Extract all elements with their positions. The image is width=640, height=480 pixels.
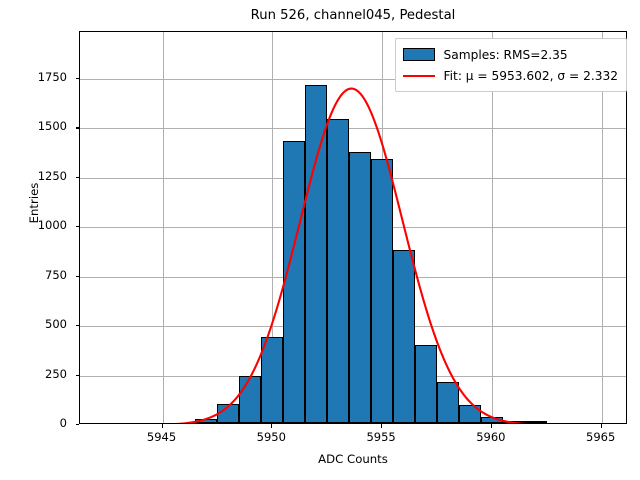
x-tick-mark bbox=[271, 424, 272, 428]
y-tick-mark bbox=[76, 226, 80, 227]
fit-curve-path bbox=[80, 89, 627, 424]
legend-item-samples: Samples: RMS=2.35 bbox=[403, 44, 618, 65]
legend-label-fit: Fit: μ = 5953.602, σ = 2.332 bbox=[444, 69, 618, 83]
y-tick-mark bbox=[76, 127, 80, 128]
x-tick-mark bbox=[601, 424, 602, 428]
y-tick-mark bbox=[76, 375, 80, 376]
y-tick-mark bbox=[76, 424, 80, 425]
y-tick-label: 1750 bbox=[21, 70, 67, 84]
x-tick-label: 5955 bbox=[351, 430, 411, 444]
y-tick-label: 1500 bbox=[21, 119, 67, 133]
y-tick-mark bbox=[76, 276, 80, 277]
y-tick-label: 750 bbox=[21, 268, 67, 282]
x-tick-mark bbox=[491, 424, 492, 428]
x-tick-mark bbox=[162, 424, 163, 428]
legend-item-fit: Fit: μ = 5953.602, σ = 2.332 bbox=[403, 65, 618, 86]
y-tick-label: 0 bbox=[21, 416, 67, 430]
matplotlib-figure: Run 526, channel045, Pedestal 5945595059… bbox=[0, 0, 640, 480]
x-tick-label: 5960 bbox=[461, 430, 521, 444]
legend-swatch-line-icon bbox=[403, 75, 435, 77]
y-tick-mark bbox=[76, 325, 80, 326]
legend-label-samples: Samples: RMS=2.35 bbox=[444, 48, 568, 62]
chart-title: Run 526, channel045, Pedestal bbox=[79, 6, 627, 26]
y-tick-label: 250 bbox=[21, 367, 67, 381]
y-tick-label: 500 bbox=[21, 317, 67, 331]
legend: Samples: RMS=2.35 Fit: μ = 5953.602, σ =… bbox=[395, 38, 627, 92]
legend-swatch-bar-icon bbox=[403, 48, 435, 61]
y-tick-mark bbox=[76, 177, 80, 178]
y-axis-label: Entries bbox=[27, 143, 41, 263]
x-tick-label: 5945 bbox=[132, 430, 192, 444]
x-tick-label: 5950 bbox=[241, 430, 301, 444]
x-axis-label: ADC Counts bbox=[79, 452, 627, 466]
x-tick-label: 5965 bbox=[571, 430, 631, 444]
x-tick-mark bbox=[381, 424, 382, 428]
y-tick-mark bbox=[76, 78, 80, 79]
